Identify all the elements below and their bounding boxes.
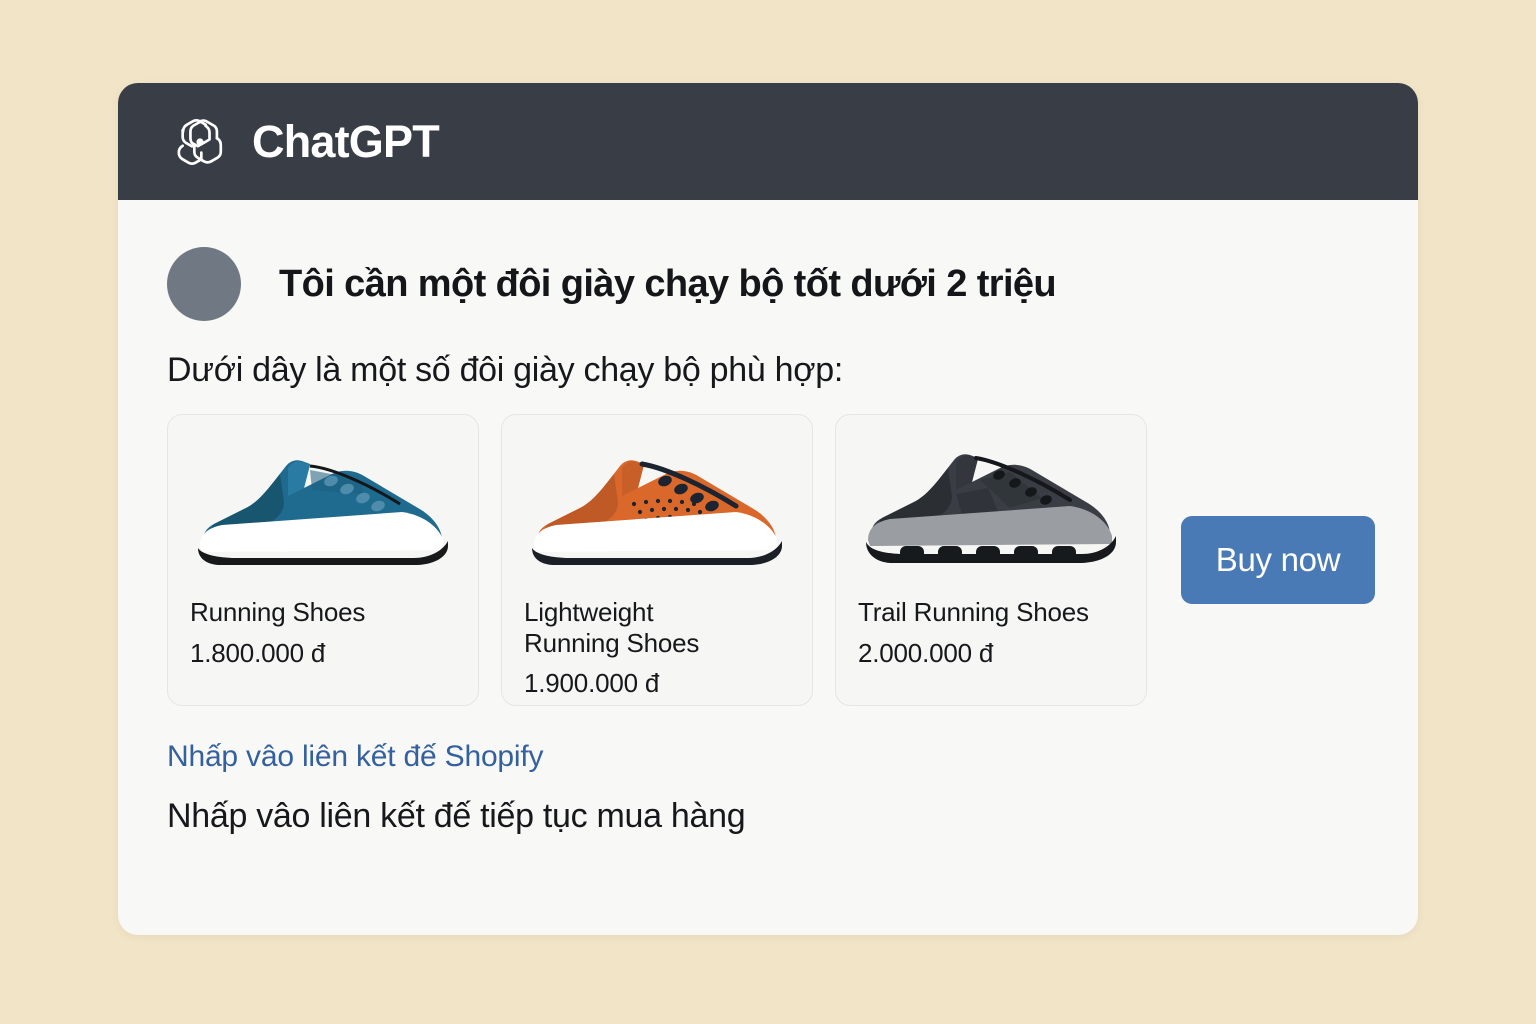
product-price: 2.000.000 đ — [858, 638, 1124, 669]
product-name: Trail Running Shoes — [858, 597, 1124, 628]
product-card[interactable]: Running Shoes 1.800.000 đ — [167, 414, 479, 706]
product-price: 1.800.000 đ — [190, 638, 456, 669]
product-image-lightweight-running-shoes — [524, 433, 790, 583]
continue-shopping-text: Nhấp vâo liên kết đế tiếp tục mua hàng — [167, 797, 1418, 836]
avatar — [167, 247, 241, 321]
product-name: Lightweight Running Shoes — [524, 597, 790, 658]
product-card[interactable]: Trail Running Shoes 2.000.000 đ — [835, 414, 1147, 706]
product-image-running-shoes — [190, 433, 456, 583]
buy-now-button[interactable]: Buy now — [1181, 516, 1375, 604]
user-message-text: Tôi cần một đôi giày chạy bộ tốt dưới 2 … — [279, 263, 1056, 306]
product-area: Running Shoes 1.800.000 đ — [118, 414, 1418, 706]
app-title: ChatGPT — [252, 116, 439, 168]
shopify-link[interactable]: Nhấp vâo liên kết đế Shopify — [167, 740, 543, 774]
product-price: 1.900.000 đ — [524, 668, 790, 699]
assistant-intro-text: Dưới dây là một số đôi giày chạy bộ phù … — [167, 351, 1418, 390]
chatgpt-window: ChatGPT Tôi cần một đôi giày chạy bộ tốt… — [118, 83, 1418, 935]
product-image-trail-running-shoes — [858, 433, 1124, 583]
product-card[interactable]: Lightweight Running Shoes 1.900.000 đ — [501, 414, 813, 706]
conversation-area: Tôi cần một đôi giày chạy bộ tốt dưới 2 … — [118, 200, 1418, 935]
app-header: ChatGPT — [118, 83, 1418, 200]
product-name: Running Shoes — [190, 597, 456, 628]
openai-logo-icon — [172, 114, 228, 170]
user-message-row: Tôi cần một đôi giày chạy bộ tốt dưới 2 … — [118, 200, 1418, 321]
product-list: Running Shoes 1.800.000 đ — [167, 414, 1147, 706]
